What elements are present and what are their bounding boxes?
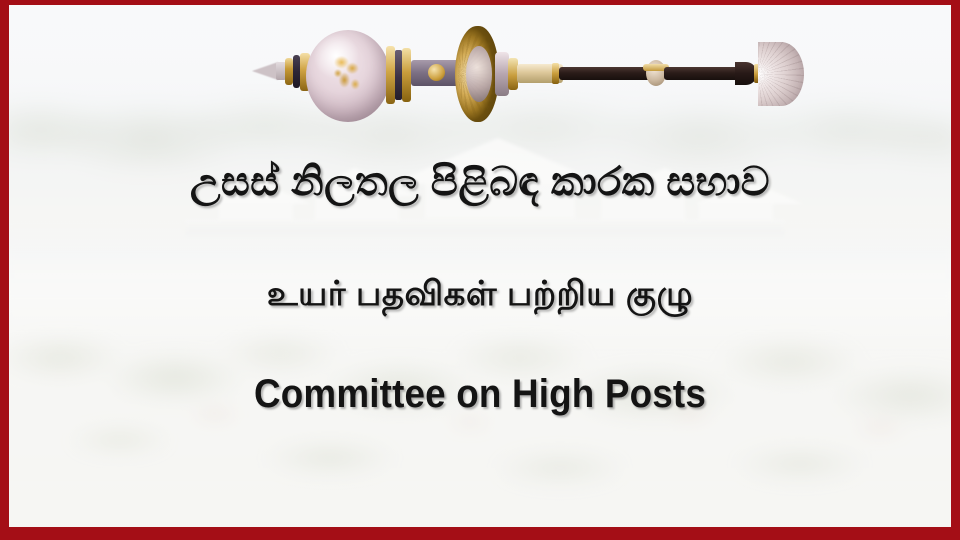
- frame-border-left: [0, 0, 9, 540]
- frame-border-right: [951, 0, 960, 540]
- title-sinhala: උසස් නිලතල පිළිබඳ කාරක සභාව: [0, 160, 960, 205]
- title-block: උසස් නිලතල පිළිබඳ කාරක සභාව உயர் பதவிகள்…: [0, 0, 960, 540]
- committee-on-high-posts-banner: උසස් නිලතල පිළිබඳ කාරක සභාව உயர் பதவிகள்…: [0, 0, 960, 540]
- title-tamil: உயர் பதவிகள் பற்றிய குழு: [0, 275, 960, 318]
- frame-border-bottom: [0, 527, 960, 540]
- title-english: Committee on High Posts: [38, 372, 921, 417]
- frame-border-top: [0, 0, 960, 5]
